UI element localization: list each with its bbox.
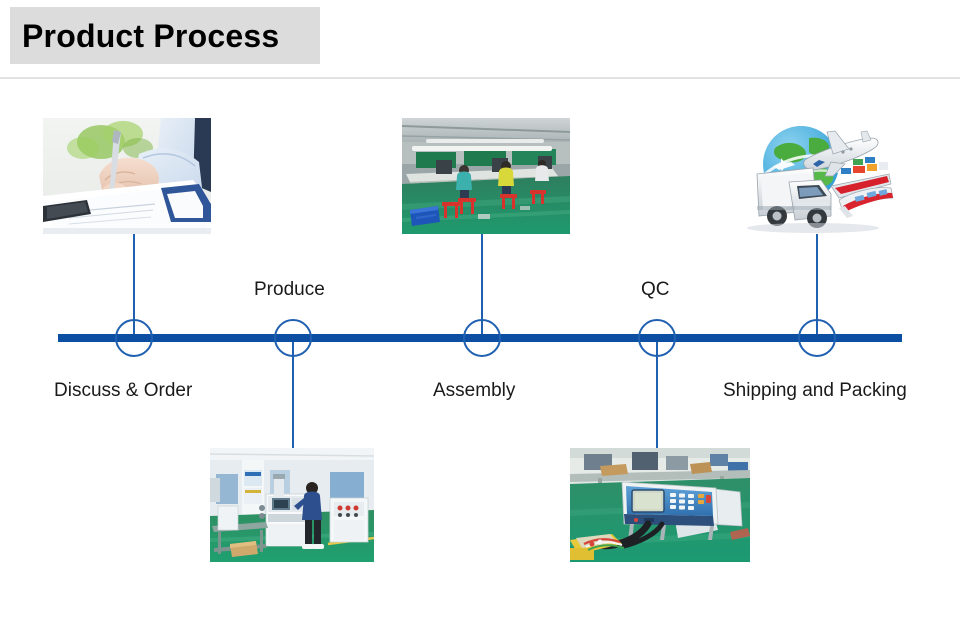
timeline-node-produce[interactable] xyxy=(274,319,312,357)
global-logistics-graphic xyxy=(739,118,899,234)
timeline-node-assembly[interactable] xyxy=(463,319,501,357)
production-workshop-photo xyxy=(210,448,374,562)
photo-discuss-order xyxy=(43,118,211,234)
photo-qc xyxy=(570,448,750,562)
header-divider xyxy=(0,77,960,79)
timeline-node-qc[interactable] xyxy=(638,319,676,357)
stage-label-discuss-order: Discuss & Order xyxy=(54,381,192,400)
photo-shipping-packing xyxy=(739,118,899,234)
page-title: Product Process xyxy=(10,20,279,52)
title-banner: Product Process xyxy=(10,7,320,64)
timeline-node-discuss-order[interactable] xyxy=(115,319,153,357)
stage-label-assembly: Assembly xyxy=(433,381,515,400)
qc-cable-tester-photo xyxy=(570,448,750,562)
photo-assembly xyxy=(402,118,570,234)
stage-label-produce: Produce xyxy=(254,280,325,299)
stage-label-qc: QC xyxy=(641,280,670,299)
stage-label-shipping-packing: Shipping and Packing xyxy=(723,381,907,400)
header-bar: Product Process xyxy=(0,0,960,79)
assembly-line-workers-photo xyxy=(402,118,570,234)
hand-signing-document-photo xyxy=(43,118,211,234)
photo-produce xyxy=(210,448,374,562)
timeline-node-shipping-packing[interactable] xyxy=(798,319,836,357)
